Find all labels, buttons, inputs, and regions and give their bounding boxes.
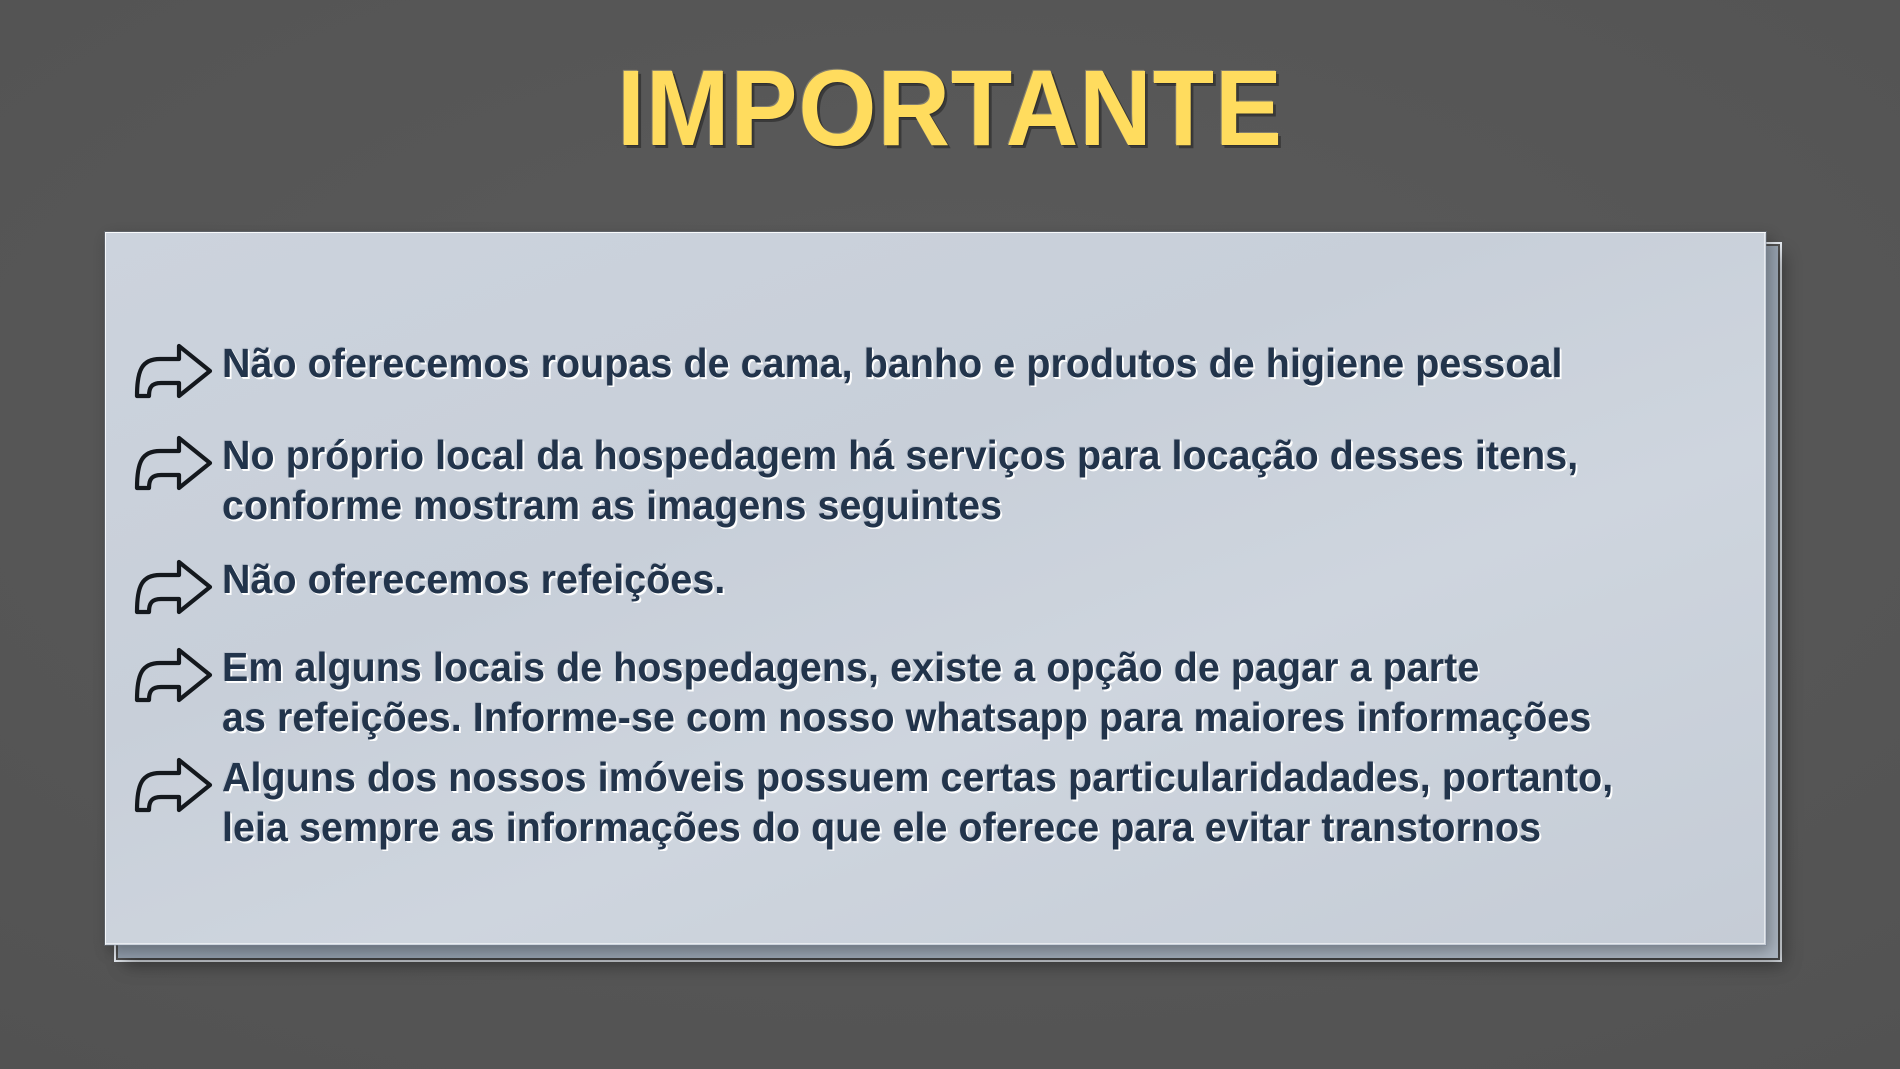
list-item-label: Não oferecemos refeições. (222, 552, 725, 604)
curved-block-arrow-right-icon (130, 432, 216, 494)
curved-block-arrow-right-icon (130, 340, 216, 402)
curved-block-arrow-right-icon (130, 556, 216, 618)
title-container: IMPORTANTE (0, 52, 1900, 164)
slide-canvas: IMPORTANTE Não oferecemos roupas de cama… (0, 0, 1900, 1069)
list-item: Alguns dos nossos imóveis possuem certas… (130, 750, 1770, 852)
curved-block-arrow-right-icon (130, 644, 216, 706)
page-title: IMPORTANTE (617, 52, 1283, 164)
list-item-label: Não oferecemos roupas de cama, banho e p… (222, 336, 1563, 388)
list-item-label: Alguns dos nossos imóveis possuem certas… (222, 750, 1613, 852)
curved-block-arrow-right-icon (130, 754, 216, 816)
list-item: Não oferecemos roupas de cama, banho e p… (130, 336, 1770, 402)
bullet-list: Não oferecemos roupas de cama, banho e p… (130, 336, 1770, 866)
list-item: No próprio local da hospedagem há serviç… (130, 428, 1770, 530)
list-item: Não oferecemos refeições. (130, 552, 1770, 618)
list-item-label: Em alguns locais de hospedagens, existe … (222, 640, 1591, 742)
list-item-label: No próprio local da hospedagem há serviç… (222, 428, 1578, 530)
list-item: Em alguns locais de hospedagens, existe … (130, 640, 1770, 742)
